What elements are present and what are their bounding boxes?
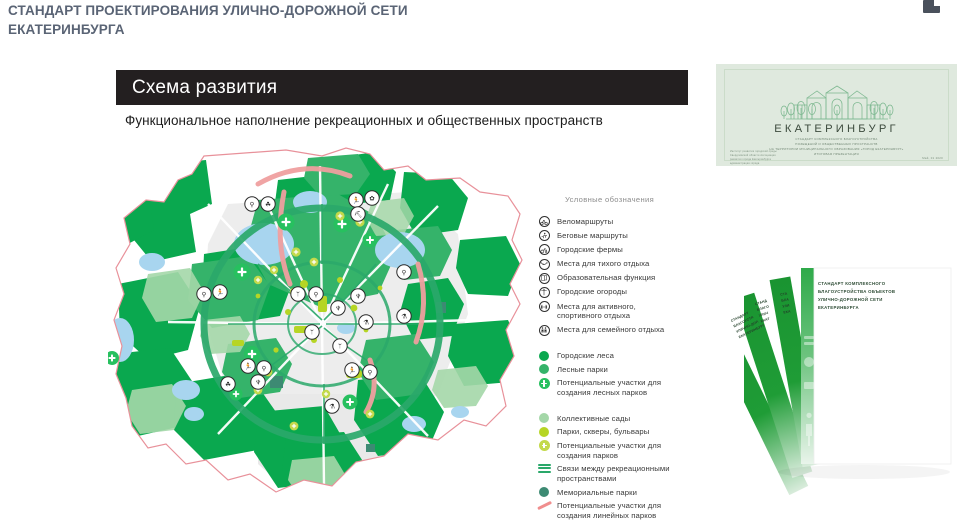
legend-item: Места для активного, спортивного отдыха (531, 301, 701, 321)
legend-item: Коллективные сады (531, 413, 701, 423)
legend-marker (531, 325, 557, 336)
legend-item-label: Образовательная функция (557, 273, 655, 283)
legend-item: Городские огороды (531, 287, 701, 298)
pavilion-arch-icon (776, 78, 898, 122)
map-legend: Условные обозначения ВеломаршрутыБеговые… (531, 195, 701, 524)
color-swatch-dot (539, 427, 549, 437)
legend-item: Места для семейного отдыха (531, 325, 701, 336)
legend-item-label: Парки, скверы, бульвары (557, 427, 649, 437)
legend-item-label: Городские леса (557, 351, 614, 361)
book-icon (539, 273, 550, 284)
slide-subtitle: Функциональное наполнение рекреационных … (125, 113, 700, 128)
legend-marker (531, 378, 557, 389)
legend-marker (531, 501, 557, 510)
legend-item: Городские фермы (531, 244, 701, 255)
sprout-icon (539, 287, 550, 298)
legend-item: Потенциальные участки для создания парко… (531, 440, 701, 460)
legend-marker (531, 464, 557, 473)
legend-icon-list: ВеломаршрутыБеговые маршрутыГородские фе… (531, 216, 701, 336)
svg-text:⚲: ⚲ (262, 364, 267, 372)
slide-canvas: СТАНДАРТ ПРОЕКТИРОВАНИЯ УЛИЧНО-ДОРОЖНОЙ … (0, 0, 957, 521)
legend-marker (531, 287, 557, 298)
svg-text:⚗: ⚗ (363, 318, 369, 326)
legend-item-label: Коллективные сады (557, 413, 630, 423)
legend-item-label: Потенциальные участки для создания линей… (557, 501, 661, 521)
legend-marker (531, 301, 557, 312)
legend-item: Потенциальные участки для создания линей… (531, 501, 701, 521)
legend-item: Лесные парки (531, 364, 701, 374)
legend-item-label: Беговые маршруты (557, 230, 628, 240)
legend-marker (531, 216, 557, 227)
color-swatch-dot (539, 487, 549, 497)
legend-marker (531, 351, 557, 361)
legend-title: Условные обозначения (565, 195, 701, 204)
svg-text:⚲: ⚲ (314, 290, 319, 298)
presentation-slide: Схема развития Функциональное наполнение… (108, 60, 698, 521)
legend-item: Мемориальные парки (531, 487, 701, 497)
svg-text:🏃: 🏃 (216, 288, 224, 296)
cover-page-thumbnail[interactable]: ЕКАТЕРИНБУРГ СТАНДАРТ КОМПЛЕКСНОГО БЛАГО… (716, 64, 957, 166)
legend-item-label: Места для активного, спортивного отдыха (557, 301, 636, 321)
slide-header-title: Схема развития (116, 77, 277, 99)
stripes-swatch-icon (538, 464, 551, 473)
legend-item: Городские леса (531, 351, 701, 361)
cover-imprint: Институт развития городской среды Свердл… (730, 150, 820, 166)
bookmark-icon (923, 0, 940, 13)
family-icon (539, 325, 550, 336)
legend-item-label: Веломаршруты (557, 216, 613, 226)
svg-text:ᛘ: ᛘ (296, 290, 300, 298)
bicycle-icon (539, 216, 550, 227)
legend-item: Парки, скверы, бульвары (531, 427, 701, 437)
legend-item-label: Места для тихого отдыха (557, 259, 649, 269)
legend-swatch-list: Городские лесаЛесные паркиПотенциальные … (531, 339, 701, 521)
legend-item: Веломаршруты (531, 216, 701, 227)
development-scheme-map: ⚲ ☘ 🏃 ✿ ⛏ ⚲ ♆ ⚗ ♆ ⚲ ᛘ ᛘ ᛘ ⚲ 🏃 🏃 ⚲ (108, 144, 538, 521)
color-swatch-dot (539, 351, 549, 361)
legend-marker (531, 413, 557, 423)
svg-text:✿: ✿ (369, 194, 375, 202)
svg-text:♆: ♆ (255, 378, 261, 386)
svg-text:🏃: 🏃 (244, 362, 252, 370)
svg-text:🏃: 🏃 (352, 196, 360, 204)
svg-text:⚗: ⚗ (329, 402, 335, 410)
svg-text:⚲: ⚲ (368, 368, 373, 376)
legend-item-label: Места для семейного отдыха (557, 325, 664, 335)
svg-text:⚗: ⚗ (401, 312, 407, 320)
svg-text:ᛘ: ᛘ (310, 328, 314, 336)
legend-item-label: Городские огороды (557, 287, 627, 297)
brochure-stack-thumbnail[interactable]: СТАНДАРТ КОМПЛЕКСНОГО БЛАГОУСТРОЙСТВА ОБ… (744, 250, 957, 512)
tractor-icon (539, 244, 550, 255)
hammock-icon (539, 259, 550, 270)
legend-item-label: Связи между рекреационными пространствам… (557, 464, 670, 484)
svg-text:♆: ♆ (335, 304, 341, 312)
legend-item-label: Потенциальные участки для создания лесны… (557, 378, 661, 398)
svg-text:⚲: ⚲ (402, 268, 407, 276)
legend-marker (531, 244, 557, 255)
legend-divider (531, 339, 701, 351)
legend-item-label: Мемориальные парки (557, 487, 637, 497)
legend-item: Связи между рекреационными пространствам… (531, 464, 701, 484)
slide-header-bar: Схема развития (116, 70, 688, 105)
plus-swatch-icon (539, 378, 550, 389)
svg-text:⛏: ⛏ (354, 210, 362, 218)
svg-text:⚲: ⚲ (250, 200, 255, 208)
diagonal-swatch-icon (538, 501, 551, 510)
runner-icon (539, 230, 550, 241)
svg-text:ᛘ: ᛘ (338, 342, 342, 350)
legend-divider (531, 401, 701, 413)
legend-marker (531, 427, 557, 437)
svg-text:☘: ☘ (265, 200, 271, 208)
color-swatch-dot (539, 364, 549, 374)
cover-date: Май, 01 2020 (922, 156, 943, 160)
legend-item: Беговые маршруты (531, 230, 701, 241)
legend-item: Потенциальные участки для создания лесны… (531, 378, 701, 398)
legend-marker (531, 440, 557, 451)
legend-marker (531, 230, 557, 241)
cover-wordmark: ЕКАТЕРИНБУРГ (716, 123, 957, 135)
brochure-title: СТАНДАРТ КОМПЛЕКСНОГО БЛАГОУСТРОЙСТВА ОБ… (818, 280, 898, 312)
legend-item: Места для тихого отдыха (531, 259, 701, 270)
legend-marker (531, 364, 557, 374)
svg-text:☘: ☘ (225, 380, 231, 388)
page-title: СТАНДАРТ ПРОЕКТИРОВАНИЯ УЛИЧНО-ДОРОЖНОЙ … (8, 2, 628, 39)
legend-item: Образовательная функция (531, 273, 701, 284)
svg-text:♆: ♆ (355, 292, 361, 300)
legend-item-label: Городские фермы (557, 244, 623, 254)
svg-text:🏃: 🏃 (348, 366, 356, 374)
svg-text:⚲: ⚲ (202, 290, 207, 298)
legend-marker (531, 259, 557, 270)
plus-swatch-icon (539, 440, 550, 451)
sport-icon (539, 301, 550, 312)
legend-marker (531, 273, 557, 284)
legend-item-label: Лесные парки (557, 364, 608, 374)
legend-item-label: Потенциальные участки для создания парко… (557, 440, 661, 460)
legend-marker (531, 487, 557, 497)
color-swatch-dot (539, 413, 549, 423)
